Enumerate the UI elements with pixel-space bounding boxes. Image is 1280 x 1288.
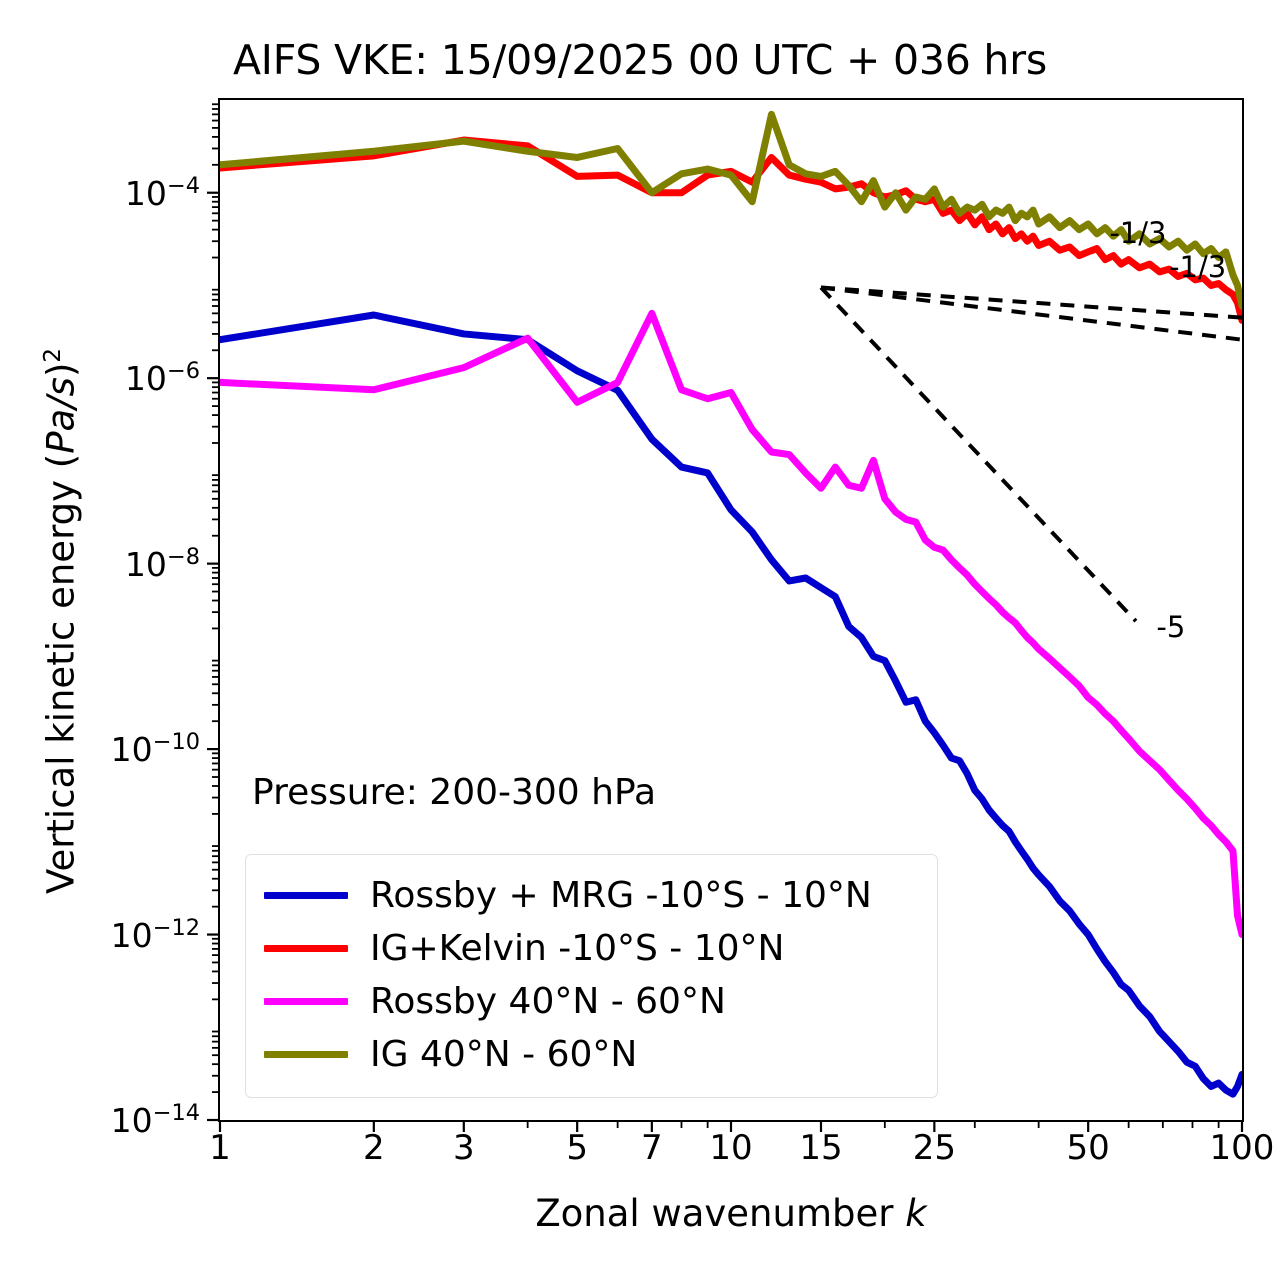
legend-item-2[interactable]: Rossby 40°N - 60°N	[264, 975, 919, 1028]
legend: Rossby + MRG -10°S - 10°NIG+Kelvin -10°S…	[245, 854, 938, 1098]
series-line-3	[220, 114, 1242, 306]
series-line-2	[220, 313, 1242, 934]
reference-line-0	[821, 288, 1242, 318]
legend-label: IG+Kelvin -10°S - 10°N	[370, 931, 784, 967]
slope-label-upper: -1/3	[1109, 216, 1166, 250]
series-line-1	[220, 140, 1242, 320]
chart-page: AIFS VKE: 15/09/2025 00 UTC + 036 hrs Ve…	[0, 0, 1280, 1288]
slope-label-minus5: -5	[1156, 610, 1185, 644]
legend-item-1[interactable]: IG+Kelvin -10°S - 10°N	[264, 922, 919, 975]
legend-color-swatch	[264, 998, 348, 1005]
legend-label: IG 40°N - 60°N	[370, 1037, 637, 1073]
legend-item-3[interactable]: IG 40°N - 60°N	[264, 1028, 919, 1081]
reference-line-2	[821, 288, 1136, 622]
legend-color-swatch	[264, 945, 348, 952]
legend-color-swatch	[264, 1051, 348, 1058]
slope-label-lower: -1/3	[1169, 250, 1226, 284]
pressure-annotation: Pressure: 200-300 hPa	[252, 772, 656, 813]
legend-color-swatch	[264, 892, 348, 899]
legend-label: Rossby + MRG -10°S - 10°N	[370, 878, 872, 914]
reference-line-1	[821, 288, 1242, 340]
legend-label: Rossby 40°N - 60°N	[370, 984, 726, 1020]
legend-item-0[interactable]: Rossby + MRG -10°S - 10°N	[264, 869, 919, 922]
